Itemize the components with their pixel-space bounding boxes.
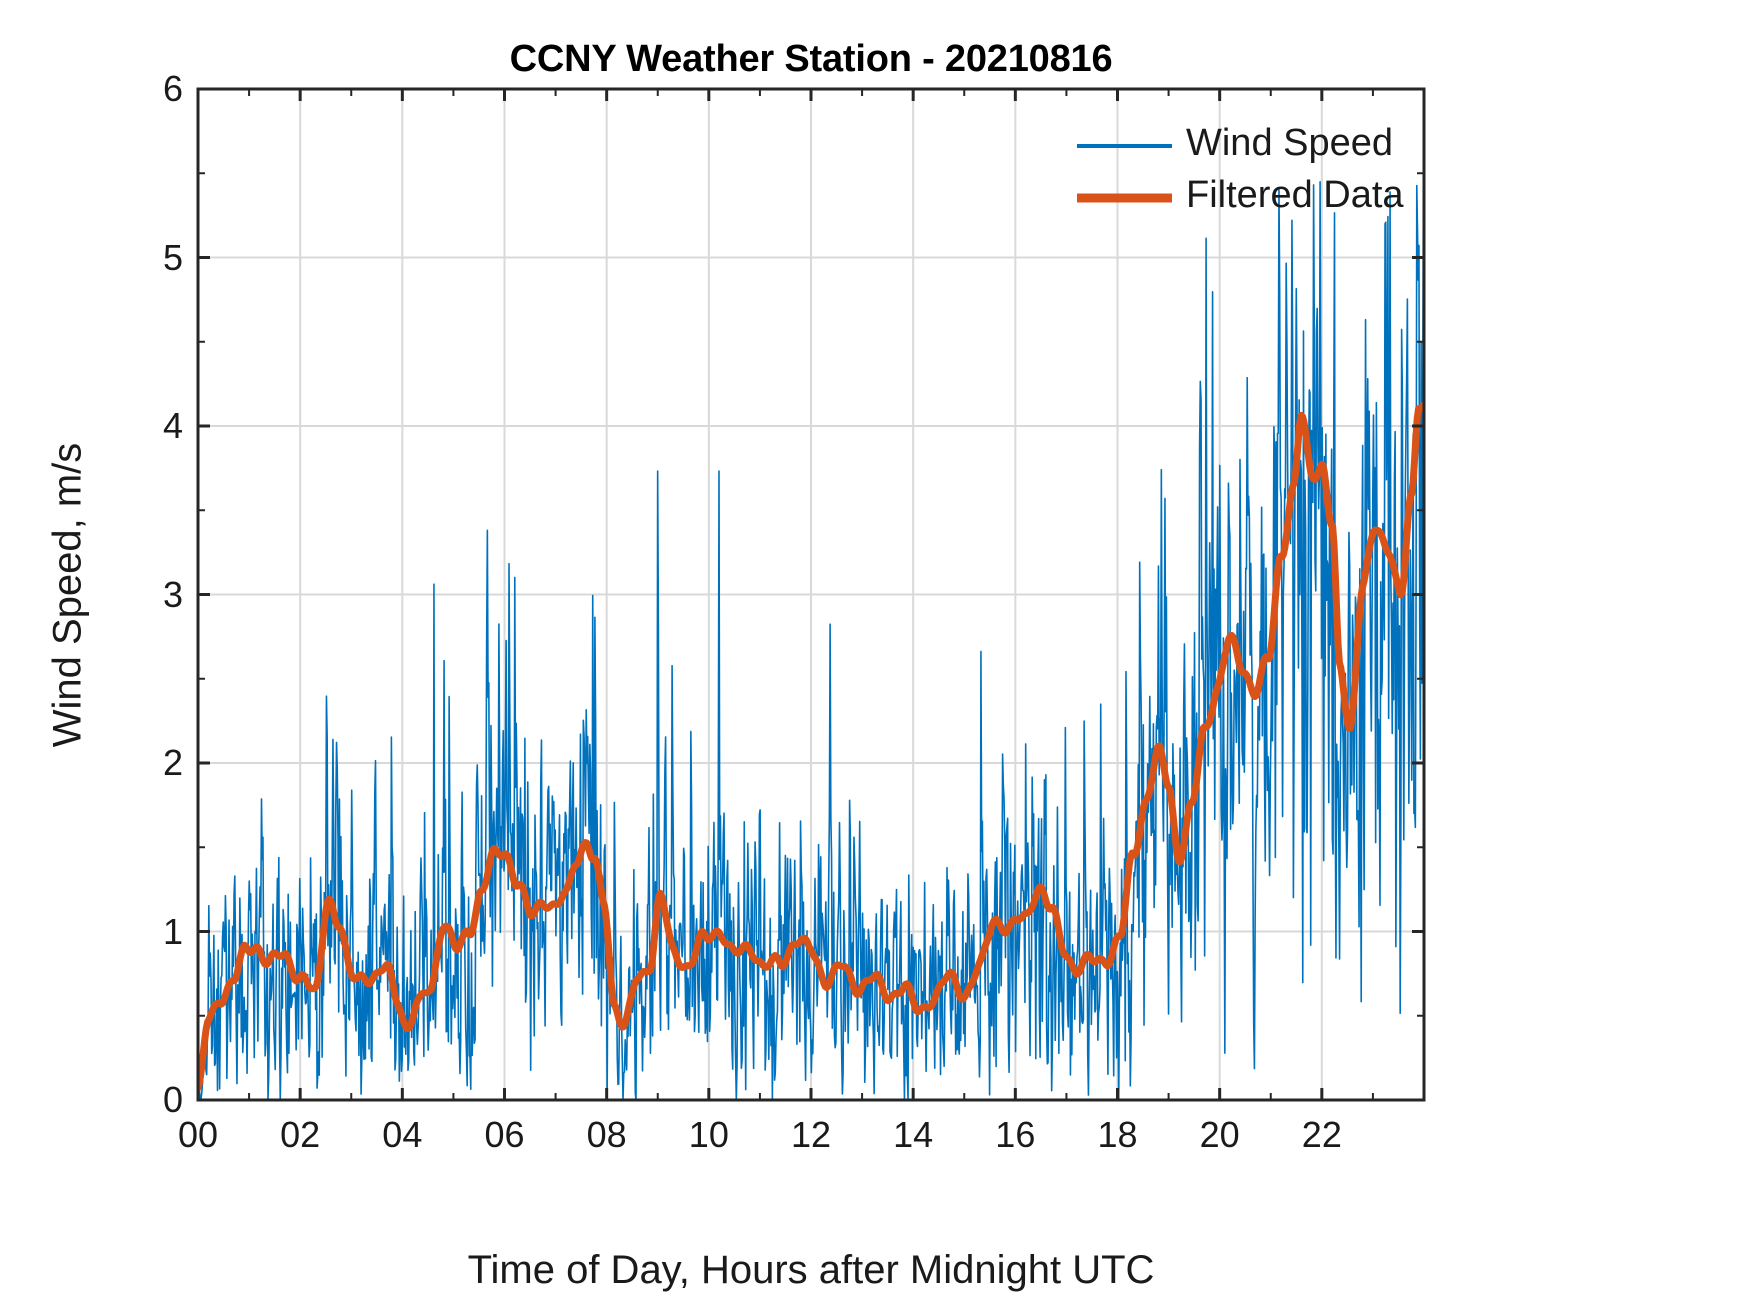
x-tick-label-14: 14 [893,1114,933,1156]
y-tick-label-3: 3 [93,574,183,616]
x-tick-label-04: 04 [382,1114,422,1156]
y-tick-label-5: 5 [93,237,183,279]
x-axis-label: Time of Day, Hours after Midnight UTC [198,1248,1424,1293]
x-tick-label-22: 22 [1302,1114,1342,1156]
legend-label-filtered-data: Filtered Data [1186,174,1404,217]
x-tick-label-18: 18 [1097,1114,1137,1156]
figure-canvas: CCNY Weather Station - 20210816 Wind Spe… [0,0,1750,1313]
plot-area [0,0,1750,1313]
x-tick-label-20: 20 [1200,1114,1240,1156]
y-tick-label-2: 2 [93,742,183,784]
legend-label-wind-speed: Wind Speed [1186,122,1393,165]
y-tick-label-4: 4 [93,405,183,447]
x-tick-label-06: 06 [484,1114,524,1156]
x-tick-label-00: 00 [178,1114,218,1156]
x-tick-label-16: 16 [995,1114,1035,1156]
x-tick-label-12: 12 [791,1114,831,1156]
x-tick-label-08: 08 [587,1114,627,1156]
legend-lines [1077,146,1172,198]
y-tick-label-6: 6 [93,68,183,110]
y-tick-label-0: 0 [93,1079,183,1121]
y-axis-label: Wind Speed, m/s [46,442,91,747]
x-tick-label-02: 02 [280,1114,320,1156]
y-tick-label-1: 1 [93,911,183,953]
x-tick-label-10: 10 [689,1114,729,1156]
